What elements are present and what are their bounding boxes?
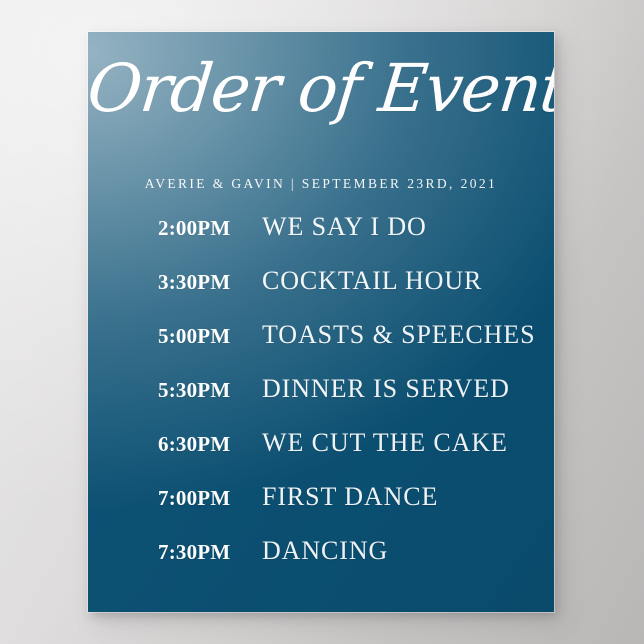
schedule-event: TOASTS & SPEECHES (262, 320, 535, 350)
schedule-event: DANCING (262, 536, 388, 566)
schedule-row: 6:30PM WE CUT THE CAKE (88, 428, 554, 482)
schedule-row: 7:30PM DANCING (88, 536, 554, 590)
schedule-time: 7:00PM (158, 486, 262, 511)
schedule-event: COCKTAIL HOUR (262, 266, 482, 296)
poster-canvas: Order of Events AVERIE & GAVIN | SEPTEMB… (88, 32, 554, 612)
schedule-time: 5:30PM (158, 378, 262, 403)
schedule-event: WE CUT THE CAKE (262, 428, 508, 458)
schedule-event: WE SAY I DO (262, 212, 427, 242)
page-title: Order of Events (88, 52, 554, 126)
schedule-time: 3:30PM (158, 270, 262, 295)
schedule-time: 6:30PM (158, 432, 262, 457)
schedule-row: 2:00PM WE SAY I DO (88, 212, 554, 266)
schedule-time: 2:00PM (158, 216, 262, 241)
schedule-event: DINNER IS SERVED (262, 374, 510, 404)
schedule-row: 5:00PM TOASTS & SPEECHES (88, 320, 554, 374)
schedule-time: 5:00PM (158, 324, 262, 349)
couple-and-date-subtitle: AVERIE & GAVIN | SEPTEMBER 23RD, 2021 (88, 176, 554, 192)
poster-preview-scene: Order of Events AVERIE & GAVIN | SEPTEMB… (0, 0, 644, 644)
schedule-row: 7:00PM FIRST DANCE (88, 482, 554, 536)
schedule-time: 7:30PM (158, 540, 262, 565)
schedule-event: FIRST DANCE (262, 482, 438, 512)
schedule-row: 5:30PM DINNER IS SERVED (88, 374, 554, 428)
schedule-row: 3:30PM COCKTAIL HOUR (88, 266, 554, 320)
order-of-events-poster[interactable]: Order of Events AVERIE & GAVIN | SEPTEMB… (88, 32, 554, 612)
schedule-list: 2:00PM WE SAY I DO 3:30PM COCKTAIL HOUR … (88, 208, 554, 590)
